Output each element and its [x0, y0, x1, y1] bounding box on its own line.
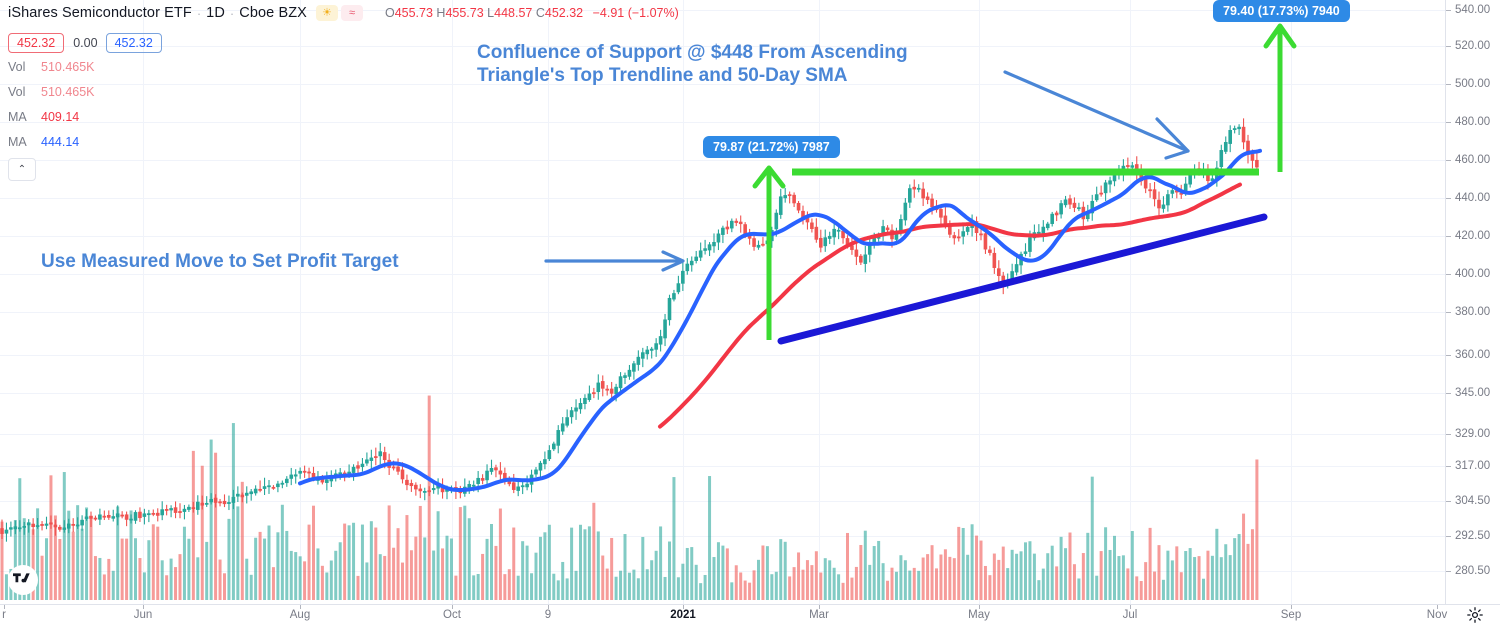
time-tick-mark	[1130, 605, 1131, 609]
measured-move-tag-2[interactable]: 79.40 (17.73%) 7940	[1213, 0, 1350, 22]
time-axis-label: Sep	[1281, 609, 1301, 621]
zero-value: 0.00	[73, 36, 97, 50]
close-price-pill[interactable]: 452.32	[106, 33, 162, 53]
tick-mark	[1446, 434, 1451, 435]
candlestick-series	[1, 118, 1259, 541]
time-tick-mark	[979, 605, 980, 609]
price-axis-label: 345.00	[1455, 387, 1490, 399]
price-axis-tick: 440.00	[1446, 191, 1500, 205]
tick-mark	[1446, 536, 1451, 537]
tick-mark	[1446, 198, 1451, 199]
price-axis-tick: 460.00	[1446, 153, 1500, 167]
price-axis-label: 400.00	[1455, 268, 1490, 280]
tick-mark	[1446, 160, 1451, 161]
time-tick-mark	[683, 605, 684, 609]
price-axis-label: 317.00	[1455, 460, 1490, 472]
price-pill-row: 452.32 0.00 452.32	[8, 32, 679, 54]
time-axis-label: Nov	[1427, 609, 1447, 621]
tick-mark	[1446, 84, 1451, 85]
time-axis-label: May	[968, 609, 990, 621]
price-axis-tick: 360.00	[1446, 348, 1500, 362]
indicator-value: 444.14	[41, 135, 79, 149]
price-axis-label: 304.50	[1455, 495, 1490, 507]
tradingview-chart-screenshot: iShares Semiconductor ETF · 1D · Cboe BZ…	[0, 0, 1500, 627]
volume-histogram	[1, 396, 1259, 600]
price-axis-tick: 520.00	[1446, 39, 1500, 53]
measured-move-note[interactable]: Use Measured Move to Set Profit Target	[41, 250, 399, 273]
price-axis-tick: 304.50	[1446, 494, 1500, 508]
time-tick-mark	[1291, 605, 1292, 609]
separator-2: ·	[230, 6, 234, 21]
measured-move-arrow-1	[755, 168, 783, 340]
measured-move-tag-1[interactable]: 79.87 (21.72%) 7987	[703, 136, 840, 158]
price-axis-tick: 280.50	[1446, 564, 1500, 578]
price-axis[interactable]: 540.00520.00500.00480.00460.00440.00420.…	[1445, 0, 1500, 604]
indicator-name: Vol	[8, 85, 34, 99]
separator-1: ·	[197, 6, 201, 21]
change-value: −4.91 (−1.07%)	[593, 6, 679, 20]
chart-settings-gear-icon[interactable]	[1466, 606, 1484, 624]
price-axis-tick: 420.00	[1446, 229, 1500, 243]
price-axis-label: 460.00	[1455, 154, 1490, 166]
tick-mark	[1446, 10, 1451, 11]
measured-move-arrow-2	[1266, 26, 1294, 172]
session-sun-icon: ☀	[316, 5, 338, 21]
price-axis-tick: 480.00	[1446, 115, 1500, 129]
tradingview-logo	[8, 565, 38, 595]
indicator-name: MA	[8, 135, 34, 149]
price-axis-label: 540.00	[1455, 4, 1490, 16]
indicator-row[interactable]: MA409.14	[8, 104, 679, 129]
price-axis-tick: 400.00	[1446, 267, 1500, 281]
indicator-row[interactable]: Vol510.465K	[8, 79, 679, 104]
price-axis-label: 380.00	[1455, 306, 1490, 318]
symbol-header-row: iShares Semiconductor ETF · 1D · Cboe BZ…	[8, 0, 679, 26]
time-axis-label: 2021	[670, 609, 696, 621]
time-tick-mark	[452, 605, 453, 609]
price-axis-label: 280.50	[1455, 565, 1490, 577]
price-axis-tick: 329.00	[1446, 427, 1500, 441]
time-axis-label: Jul	[1123, 609, 1138, 621]
time-axis[interactable]: rJunAugOct92021MarMayJulSepNov	[0, 604, 1500, 628]
price-axis-label: 500.00	[1455, 78, 1490, 90]
time-axis-label: Mar	[809, 609, 829, 621]
low-value: 448.57	[494, 6, 532, 20]
indicator-value: 510.465K	[41, 60, 95, 74]
time-tick-mark	[300, 605, 301, 609]
tick-mark	[1446, 236, 1451, 237]
exchange-label[interactable]: Cboe BZX	[239, 5, 307, 21]
time-tick-mark	[819, 605, 820, 609]
time-axis-label: 9	[545, 609, 551, 621]
tick-mark	[1446, 466, 1451, 467]
price-axis-tick: 317.00	[1446, 459, 1500, 473]
price-axis-tick: 500.00	[1446, 77, 1500, 91]
tick-mark	[1446, 501, 1451, 502]
time-tick-mark	[1437, 605, 1438, 609]
tradingview-logo-icon	[13, 573, 33, 587]
tick-mark	[1446, 46, 1451, 47]
tick-mark	[1446, 312, 1451, 313]
time-tick-mark	[143, 605, 144, 609]
price-axis-tick: 540.00	[1446, 3, 1500, 17]
indicator-list: Vol510.465KVol510.465KMA409.14MA444.14	[8, 54, 679, 154]
tick-mark	[1446, 274, 1451, 275]
indicator-value: 409.14	[41, 110, 79, 124]
price-axis-label: 520.00	[1455, 40, 1490, 52]
time-axis-label: Oct	[443, 609, 461, 621]
tick-mark	[1446, 571, 1451, 572]
indicator-name: Vol	[8, 60, 34, 74]
collapse-legend-button[interactable]: ⌃	[8, 158, 36, 181]
interval-label[interactable]: 1D	[206, 5, 225, 21]
price-axis-label: 329.00	[1455, 428, 1490, 440]
indicator-row[interactable]: Vol510.465K	[8, 54, 679, 79]
tick-mark	[1446, 355, 1451, 356]
indicator-name: MA	[8, 110, 34, 124]
price-axis-label: 292.50	[1455, 530, 1490, 542]
adjustment-wave-icon: ≈	[341, 5, 363, 21]
tick-mark	[1446, 122, 1451, 123]
high-value: 455.73	[445, 6, 483, 20]
price-axis-label: 420.00	[1455, 230, 1490, 242]
tick-mark	[1446, 393, 1451, 394]
price-axis-tick: 380.00	[1446, 305, 1500, 319]
time-axis-label: r	[2, 609, 6, 621]
price-axis-label: 480.00	[1455, 116, 1490, 128]
symbol-title[interactable]: iShares Semiconductor ETF	[8, 5, 192, 21]
indicator-value: 510.465K	[41, 85, 95, 99]
ohlc-values: O455.73 H455.73 L448.57 C452.32 −4.91 (−…	[385, 6, 679, 20]
time-axis-label: Jun	[134, 609, 153, 621]
indicator-row[interactable]: MA444.14	[8, 129, 679, 154]
chart-legend: iShares Semiconductor ETF · 1D · Cboe BZ…	[8, 0, 679, 181]
price-axis-tick: 345.00	[1446, 386, 1500, 400]
close-value: 452.32	[545, 6, 583, 20]
time-axis-label: Aug	[290, 609, 310, 621]
time-tick-mark	[548, 605, 549, 609]
measured-move-pointer-arrow	[546, 252, 683, 270]
time-tick-mark	[4, 605, 5, 609]
chevron-up-icon: ⌃	[18, 164, 26, 175]
close-key: C	[536, 6, 545, 20]
price-axis-label: 360.00	[1455, 349, 1490, 361]
open-key: O	[385, 6, 395, 20]
price-axis-label: 440.00	[1455, 192, 1490, 204]
price-axis-tick: 292.50	[1446, 529, 1500, 543]
last-price-pill[interactable]: 452.32	[8, 33, 64, 53]
open-value: 455.73	[395, 6, 433, 20]
